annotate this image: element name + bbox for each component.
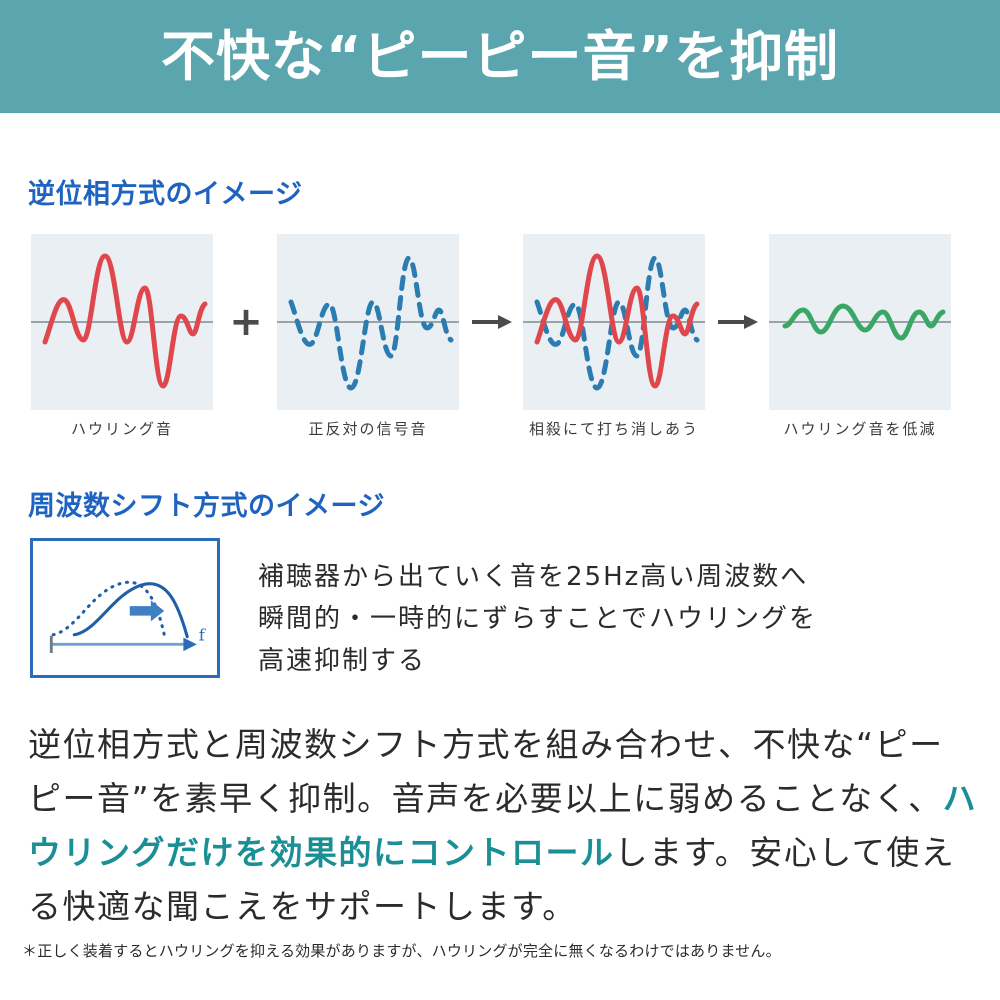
body-paragraph: 逆位相方式と周波数シフト方式を組み合わせ、不快な“ピーピー音”を素早く抑制。音声… — [28, 718, 978, 934]
wave-panel-label: ハウリング音 — [31, 418, 213, 439]
frequency-shift-diagram: f — [30, 538, 220, 678]
wave-panel-label: 相殺にて打ち消しあう — [523, 418, 705, 439]
footnote: ＊正しく装着するとハウリングを抑える効果がありますが、ハウリングが完全に無くなる… — [22, 940, 982, 961]
frequency-shift-description: 補聴器から出ていく音を25Hz高い周波数へ 瞬間的・一時的にずらすことでハウリン… — [258, 556, 978, 682]
plus-icon: + — [216, 234, 276, 410]
wave-panel-label: 正反対の信号音 — [277, 418, 459, 439]
wave-panel-label: ハウリング音を低減 — [769, 418, 951, 439]
svg-text:f: f — [199, 626, 206, 645]
section-heading-antiphase: 逆位相方式のイメージ — [28, 172, 302, 211]
arrow-right-icon — [462, 234, 522, 410]
wave-panel-inverted — [277, 234, 459, 410]
description-line: 補聴器から出ていく音を25Hz高い周波数へ — [258, 556, 978, 598]
section-heading-frequency-shift: 周波数シフト方式のイメージ — [28, 484, 385, 523]
wave-panel-cancellation — [523, 234, 705, 410]
wave-panel-reduced — [769, 234, 951, 410]
antiphase-diagram-row: ハウリング音 + 正反対の信号音 相殺にて打ち消しあう — [0, 234, 1000, 439]
description-line: 高速抑制する — [258, 640, 978, 682]
arrow-right-icon — [708, 234, 768, 410]
page-root: 不快な“ピーピー音”を抑制 逆位相方式のイメージ ハウリング音 + 正反対の信号… — [0, 0, 1000, 1000]
wave-panel-howling — [31, 234, 213, 410]
description-line: 瞬間的・一時的にずらすことでハウリングを — [258, 598, 978, 640]
page-title: 不快な“ピーピー音”を抑制 — [161, 30, 839, 84]
body-text-part1: 逆位相方式と周波数シフト方式を組み合わせ、不快な“ピーピー音”を素早く抑制。音声… — [28, 725, 944, 818]
header-banner: 不快な“ピーピー音”を抑制 — [0, 0, 1000, 113]
